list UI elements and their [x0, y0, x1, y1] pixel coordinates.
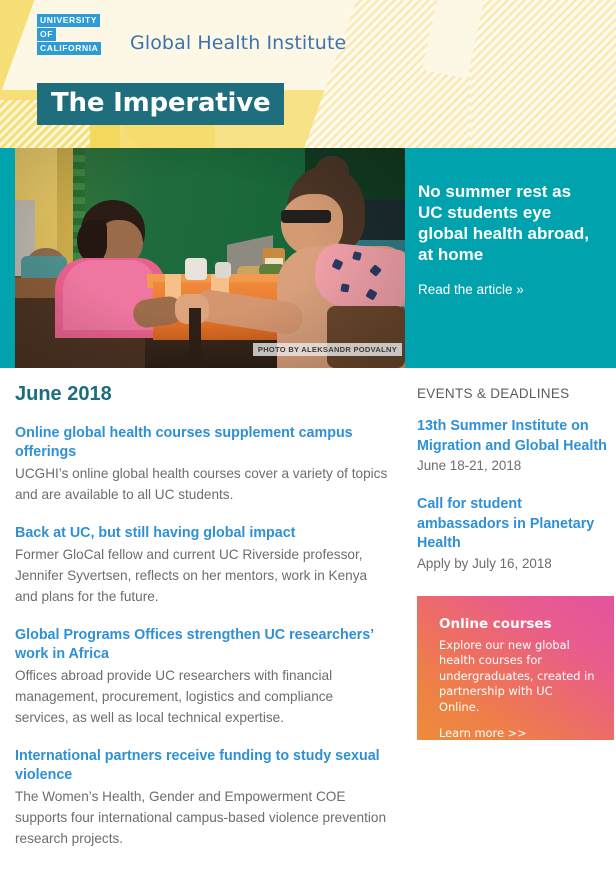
article-item: Back at UC, but still having global impa…	[15, 524, 389, 607]
decorative-shape-pale-3	[411, 42, 545, 148]
issue-month: June 2018	[15, 383, 389, 406]
events-section-header: EVENTS & DEADLINES	[417, 386, 614, 401]
article-title-link[interactable]: Global Programs Offices strengthen UC re…	[15, 626, 389, 664]
content-area: June 2018 Online global health courses s…	[0, 368, 616, 868]
event-item: 13th Summer Institute on Migration and G…	[417, 417, 614, 475]
uc-logo-line-of: OF	[37, 28, 56, 41]
decorative-shape-pale-4	[532, 1, 616, 139]
photo-credit: PHOTO BY ALEKSANDR PODVALNY	[253, 343, 402, 356]
article-description: UCGHI’s online global health courses cov…	[15, 463, 389, 505]
uc-logo-line-california: CALIFORNIA	[37, 42, 101, 55]
uc-logo[interactable]: UNIVERSITY OF CALIFORNIA	[37, 14, 115, 56]
article-title-link[interactable]: International partners receive funding t…	[15, 747, 389, 785]
online-courses-promo[interactable]: Online courses Explore our new global he…	[417, 596, 614, 740]
article-title-link[interactable]: Back at UC, but still having global impa…	[15, 524, 389, 543]
event-title-link[interactable]: 13th Summer Institute on Migration and G…	[417, 417, 614, 456]
masthead: UNIVERSITY OF CALIFORNIA Global Health I…	[0, 0, 616, 148]
article-item: Global Programs Offices strengthen UC re…	[15, 626, 389, 728]
uc-logo-line-university: UNIVERSITY	[37, 14, 100, 27]
promo-title: Online courses	[439, 616, 596, 632]
article-item: International partners receive funding t…	[15, 747, 389, 849]
decorative-shape-pale-2	[405, 0, 556, 106]
hero-photo: PHOTO BY ALEKSANDR PODVALNY	[15, 148, 405, 368]
read-article-link[interactable]: Read the article »	[418, 282, 524, 297]
event-title-link[interactable]: Call for student ambassadors in Planetar…	[417, 495, 614, 554]
article-description: The Women’s Health, Gender and Empowerme…	[15, 786, 389, 849]
newsletter-title-banner: The Imperative	[37, 83, 284, 125]
main-column: June 2018 Online global health courses s…	[0, 378, 405, 868]
decorative-stripes-center	[300, 0, 500, 148]
decorative-stripes-right	[470, 0, 616, 148]
promo-learn-more-link[interactable]: Learn more >>	[439, 726, 527, 740]
event-date: Apply by July 16, 2018	[417, 554, 614, 573]
hero-headline: No summer rest as UC students eye global…	[418, 181, 598, 265]
decorative-shape-notch	[422, 0, 484, 79]
hero-section: PHOTO BY ALEKSANDR PODVALNY No summer re…	[0, 148, 616, 368]
hero-left-gutter	[0, 148, 15, 368]
article-title-link[interactable]: Online global health courses supplement …	[15, 424, 389, 462]
institute-name: Global Health Institute	[130, 32, 346, 54]
article-description: Offices abroad provide UC researchers wi…	[15, 665, 389, 728]
article-description: Former GloCal fellow and current UC Rive…	[15, 544, 389, 607]
hero-panel: No summer rest as UC students eye global…	[405, 148, 616, 368]
promo-text: Explore our new global health courses fo…	[439, 638, 596, 716]
article-item: Online global health courses supplement …	[15, 424, 389, 505]
newsletter-page: UNIVERSITY OF CALIFORNIA Global Health I…	[0, 0, 616, 889]
decorative-shape-pale-1	[368, 0, 462, 106]
event-date: June 18-21, 2018	[417, 456, 614, 475]
sidebar-column: EVENTS & DEADLINES 13th Summer Institute…	[405, 378, 616, 868]
event-item: Call for student ambassadors in Planetar…	[417, 495, 614, 573]
photo-vignette	[15, 148, 405, 368]
